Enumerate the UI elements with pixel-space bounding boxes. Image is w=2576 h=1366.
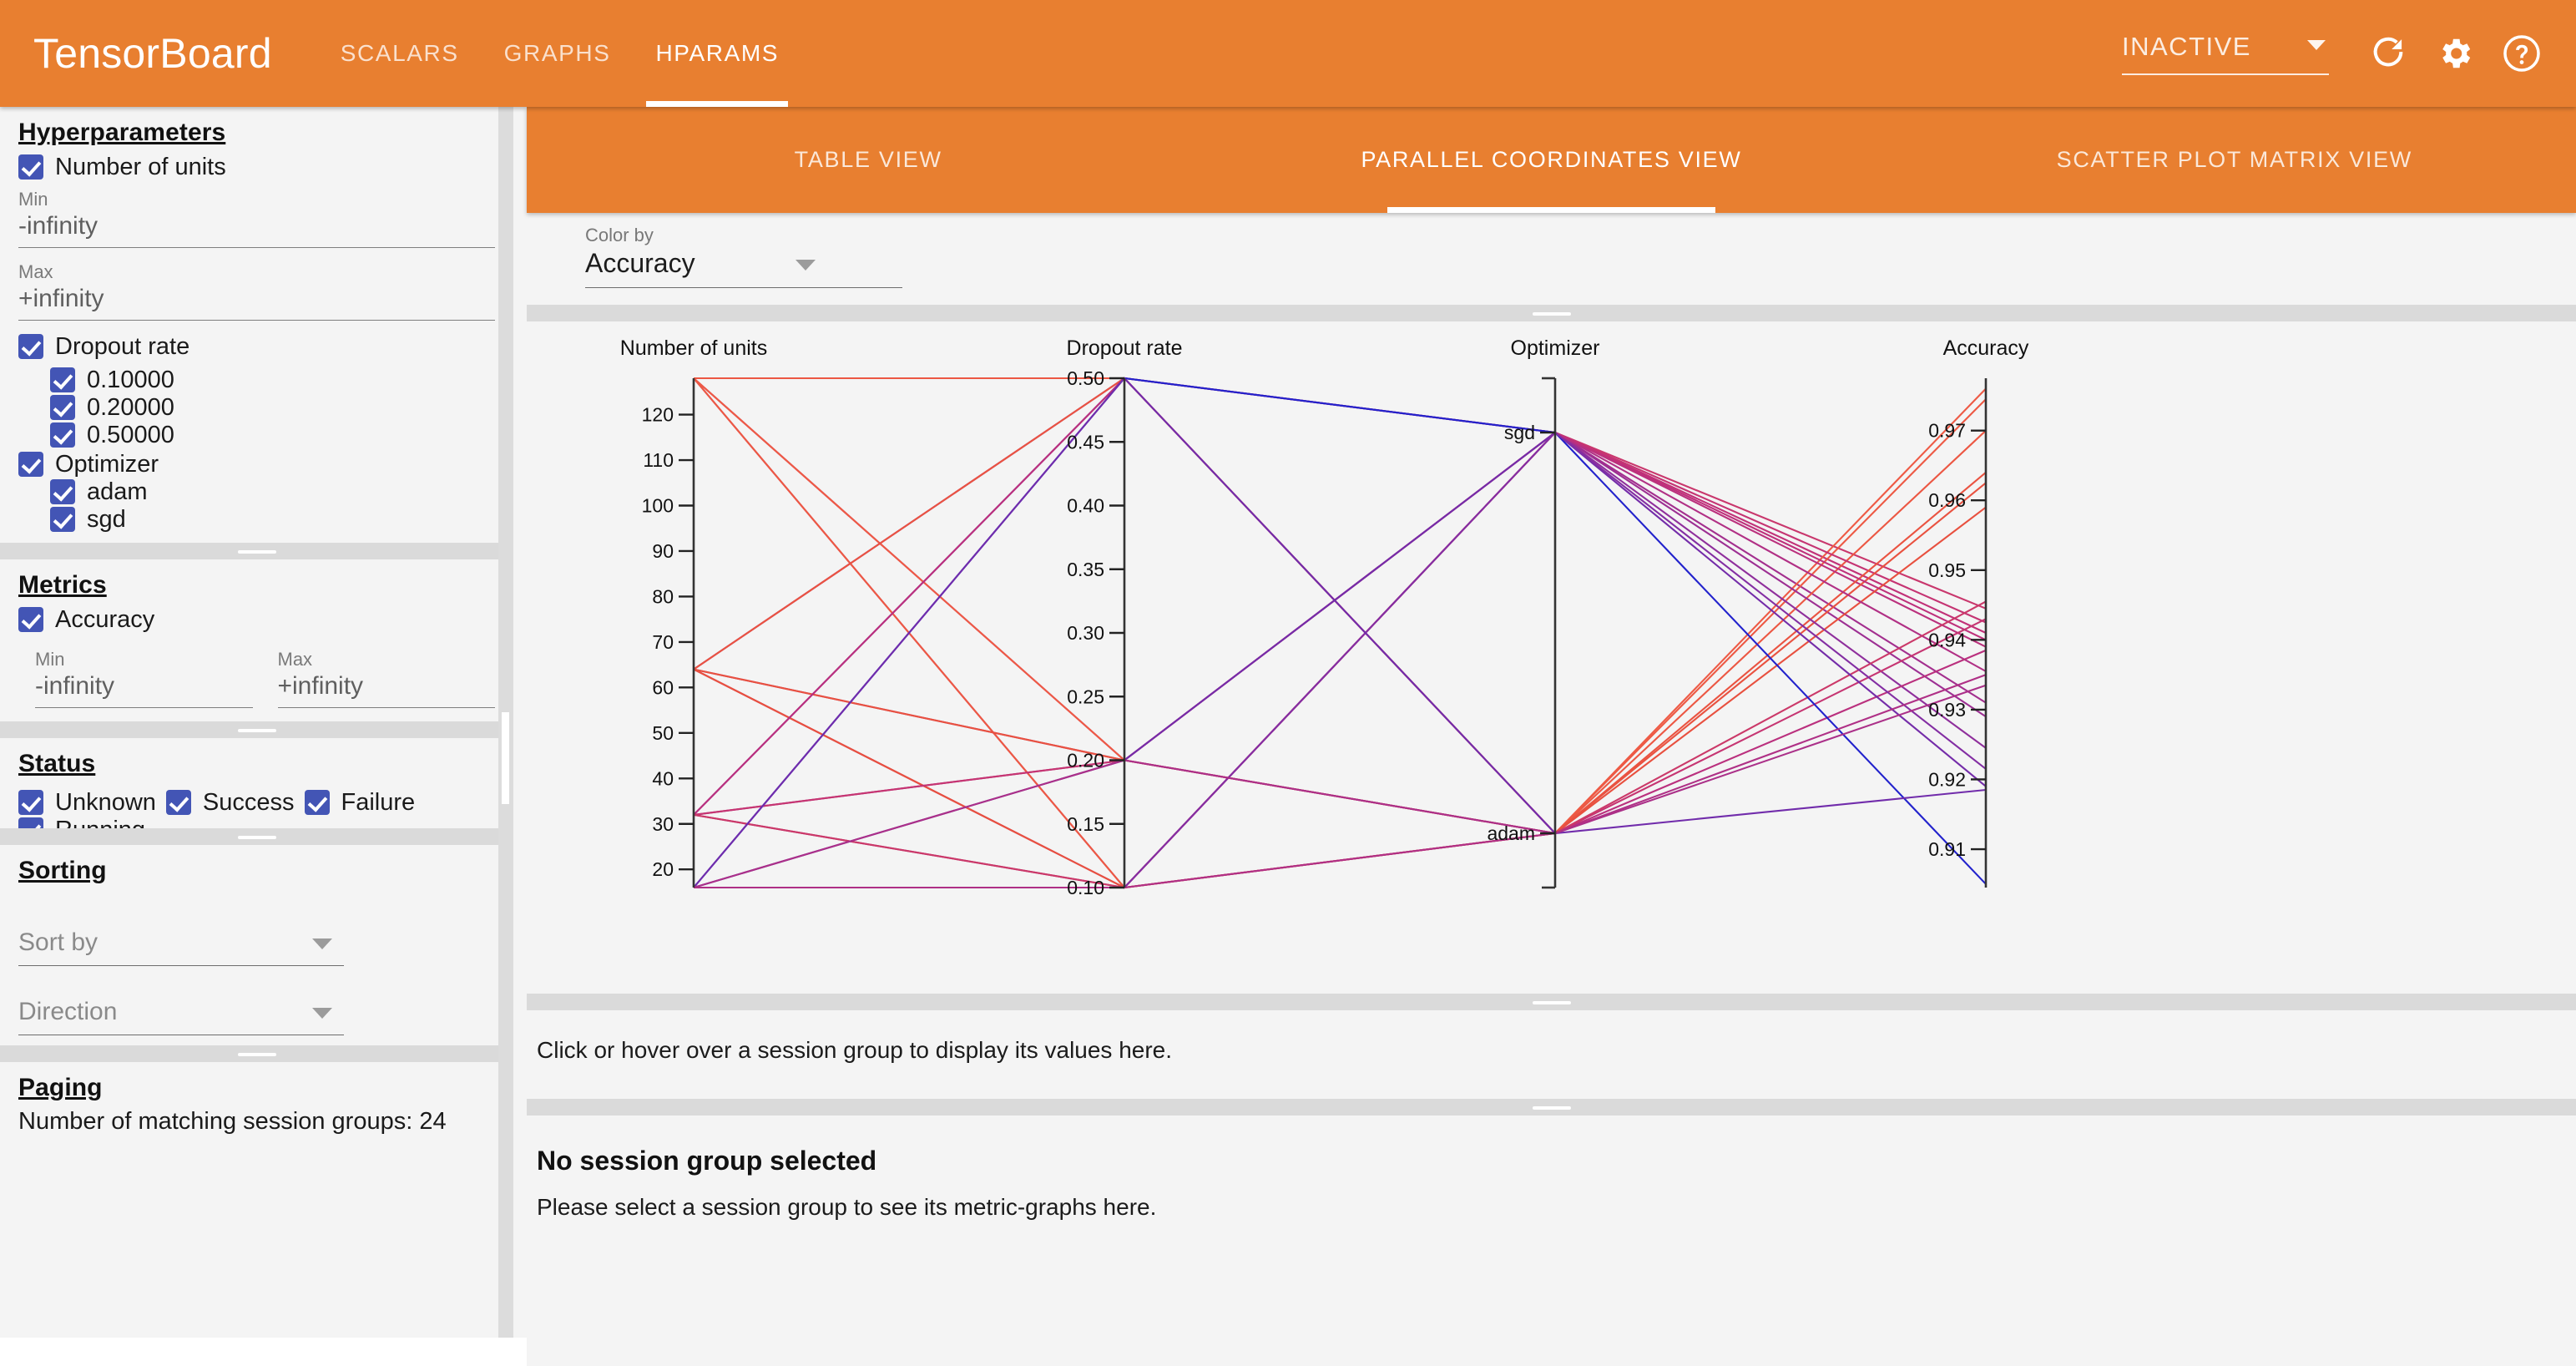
hover-resize-handle[interactable] bbox=[527, 994, 2576, 1010]
nav-tab-hparams[interactable]: HPARAMS bbox=[633, 0, 801, 107]
metric-label: Accuracy bbox=[55, 607, 154, 633]
metrics-title: Metrics bbox=[18, 559, 495, 600]
section-resize-handle[interactable] bbox=[0, 1045, 513, 1062]
view-tabs: TABLE VIEW PARALLEL COORDINATES VIEW SCA… bbox=[527, 107, 2576, 213]
accuracy-max-value[interactable]: +infinity bbox=[278, 672, 496, 708]
hparam-number-of-units[interactable]: Number of units bbox=[18, 154, 495, 180]
accuracy-min-field[interactable]: Min -infinity bbox=[35, 649, 253, 708]
direction-value: Direction bbox=[18, 998, 117, 1025]
tab-scatter-plot-matrix-view[interactable]: SCATTER PLOT MATRIX VIEW bbox=[1893, 107, 2576, 213]
accuracy-min-value[interactable]: -infinity bbox=[35, 672, 253, 708]
svg-text:0.93: 0.93 bbox=[1928, 699, 1966, 721]
svg-text:50: 50 bbox=[652, 722, 674, 744]
metrics-section: Metrics Accuracy Min -infinity Max +infi… bbox=[0, 559, 513, 721]
status-label: Unknown bbox=[55, 790, 156, 816]
svg-text:adam: adam bbox=[1487, 822, 1535, 844]
svg-text:0.94: 0.94 bbox=[1928, 629, 1966, 650]
parallel-coordinates-svg[interactable]: Number of units2030405060708090100110120… bbox=[527, 321, 2576, 994]
units-min-field[interactable]: Min -infinity bbox=[18, 189, 495, 248]
metric-accuracy[interactable]: Accuracy bbox=[18, 607, 495, 633]
hparam-dropout-rate[interactable]: Dropout rate bbox=[18, 334, 495, 360]
help-icon[interactable] bbox=[2498, 29, 2546, 78]
run-selector-value: INACTIVE bbox=[2122, 32, 2251, 61]
units-min-value[interactable]: -infinity bbox=[18, 212, 495, 248]
accuracy-max-field[interactable]: Max +infinity bbox=[278, 649, 496, 708]
svg-text:0.91: 0.91 bbox=[1928, 838, 1966, 860]
svg-text:60: 60 bbox=[652, 676, 674, 698]
svg-text:0.25: 0.25 bbox=[1067, 686, 1104, 707]
chart-resize-handle[interactable] bbox=[527, 305, 2576, 321]
direction-select[interactable]: Direction bbox=[18, 998, 344, 1035]
paging-section: Paging Number of matching session groups… bbox=[0, 1062, 513, 1135]
svg-text:0.35: 0.35 bbox=[1067, 559, 1104, 580]
session-group-panel: No session group selected Please select … bbox=[527, 1116, 2576, 1366]
chevron-down-icon bbox=[796, 260, 816, 271]
sidebar-scrollbar[interactable] bbox=[498, 107, 513, 1338]
hyperparameters-title: Hyperparameters bbox=[18, 107, 495, 147]
status-section: Status Unknown Success Failure Running bbox=[0, 738, 513, 822]
sorting-title: Sorting bbox=[18, 845, 495, 885]
section-resize-handle[interactable] bbox=[0, 828, 513, 845]
svg-text:0.97: 0.97 bbox=[1928, 420, 1966, 442]
svg-text:Accuracy: Accuracy bbox=[1943, 336, 2029, 360]
checkbox-dropout-rate[interactable] bbox=[18, 334, 43, 359]
color-by-label: Color by bbox=[585, 225, 902, 246]
run-selector[interactable]: INACTIVE bbox=[2122, 32, 2329, 75]
svg-text:0.96: 0.96 bbox=[1928, 489, 1966, 511]
color-by-select[interactable]: Color by Accuracy bbox=[585, 225, 902, 288]
session-group-title: No session group selected bbox=[537, 1146, 876, 1176]
svg-text:Number of units: Number of units bbox=[620, 336, 767, 360]
sort-by-select[interactable]: Sort by bbox=[18, 928, 344, 966]
optimizer-value-label: sgd bbox=[87, 507, 126, 533]
hparam-optimizer[interactable]: Optimizer bbox=[18, 452, 495, 478]
paging-title: Paging bbox=[18, 1062, 495, 1102]
session-group-resize-handle[interactable] bbox=[527, 1099, 2576, 1116]
svg-text:0.92: 0.92 bbox=[1928, 768, 1966, 790]
sort-by-value: Sort by bbox=[18, 928, 98, 956]
chevron-down-icon bbox=[2307, 40, 2326, 50]
checkbox-optimizer-sgd[interactable] bbox=[50, 507, 75, 532]
svg-text:Optimizer: Optimizer bbox=[1511, 336, 1600, 360]
svg-text:100: 100 bbox=[642, 495, 674, 517]
hyperparameters-section: Hyperparameters Number of units Min -inf… bbox=[0, 107, 513, 533]
units-max-field[interactable]: Max +infinity bbox=[18, 261, 495, 321]
svg-text:0.95: 0.95 bbox=[1928, 559, 1966, 581]
svg-text:0.20: 0.20 bbox=[1067, 750, 1104, 772]
optimizer-value-1[interactable]: sgd bbox=[50, 507, 495, 533]
refresh-icon[interactable] bbox=[2364, 29, 2412, 78]
checkbox-status-failure[interactable] bbox=[305, 790, 330, 815]
status-unknown[interactable]: Unknown bbox=[18, 790, 156, 816]
matching-session-groups: Number of matching session groups: 24 bbox=[18, 1109, 495, 1135]
svg-text:0.45: 0.45 bbox=[1067, 431, 1104, 453]
nav-tab-scalars[interactable]: SCALARS bbox=[318, 0, 482, 107]
nav-tab-graphs[interactable]: GRAPHS bbox=[482, 0, 634, 107]
checkbox-optimizer-adam[interactable] bbox=[50, 479, 75, 504]
dropout-value-0[interactable]: 0.10000 bbox=[50, 367, 495, 393]
header-actions: INACTIVE bbox=[2122, 29, 2546, 78]
tab-table-view[interactable]: TABLE VIEW bbox=[527, 107, 1210, 213]
status-label: Failure bbox=[341, 790, 416, 816]
color-by-value[interactable]: Accuracy bbox=[585, 248, 902, 288]
units-max-value[interactable]: +infinity bbox=[18, 285, 495, 321]
gear-icon[interactable] bbox=[2431, 29, 2479, 78]
svg-text:20: 20 bbox=[652, 858, 674, 880]
status-label: Success bbox=[203, 790, 295, 816]
section-resize-handle[interactable] bbox=[0, 721, 513, 738]
svg-text:0.10: 0.10 bbox=[1067, 877, 1104, 898]
units-min-label: Min bbox=[18, 189, 495, 210]
checkbox-optimizer[interactable] bbox=[18, 452, 43, 477]
svg-text:Dropout rate: Dropout rate bbox=[1067, 336, 1183, 360]
sidebar-scrollbar-thumb[interactable] bbox=[502, 712, 509, 804]
hparam-label: Number of units bbox=[55, 154, 226, 180]
filters-sidebar[interactable]: Hyperparameters Number of units Min -inf… bbox=[0, 107, 513, 1338]
sorting-section: Sorting Sort by Direction bbox=[0, 845, 513, 1045]
app-title: TensorBoard bbox=[33, 29, 272, 78]
dropout-value-label: 0.10000 bbox=[87, 367, 174, 393]
hparam-label: Optimizer bbox=[55, 452, 159, 478]
dropout-value-1[interactable]: 0.20000 bbox=[50, 395, 495, 421]
svg-text:30: 30 bbox=[652, 813, 674, 835]
svg-text:40: 40 bbox=[652, 767, 674, 789]
accuracy-range-fields: Min -infinity Max +infinity bbox=[35, 640, 495, 721]
session-group-subtitle: Please select a session group to see its… bbox=[537, 1194, 1156, 1221]
accuracy-min-label: Min bbox=[35, 649, 253, 670]
dropout-value-label: 0.20000 bbox=[87, 395, 174, 421]
svg-text:0.50: 0.50 bbox=[1067, 367, 1104, 389]
svg-text:110: 110 bbox=[643, 449, 674, 471]
section-resize-handle[interactable] bbox=[0, 543, 513, 559]
svg-text:120: 120 bbox=[642, 404, 674, 426]
hparam-label: Dropout rate bbox=[55, 334, 189, 360]
checkbox-status-success[interactable] bbox=[166, 790, 191, 815]
dropout-value-label: 0.50000 bbox=[87, 422, 174, 448]
main-content: TABLE VIEW PARALLEL COORDINATES VIEW SCA… bbox=[527, 107, 2576, 1338]
svg-text:70: 70 bbox=[652, 631, 674, 653]
color-by-value-text: Accuracy bbox=[585, 248, 695, 278]
checkbox-dropout-0.20000[interactable] bbox=[50, 395, 75, 420]
main-nav: SCALARS GRAPHS HPARAMS bbox=[318, 0, 801, 107]
status-failure[interactable]: Failure bbox=[305, 790, 416, 816]
checkbox-dropout-0.50000[interactable] bbox=[50, 422, 75, 448]
color-by-bar: Color by Accuracy bbox=[527, 213, 2576, 305]
checkbox-status-unknown[interactable] bbox=[18, 790, 43, 815]
hparams-dashboard: TensorBoard SCALARS GRAPHS HPARAMS INACT… bbox=[0, 0, 2576, 1338]
svg-text:0.30: 0.30 bbox=[1067, 622, 1104, 644]
chevron-down-icon bbox=[312, 1008, 332, 1019]
status-title: Status bbox=[18, 738, 495, 778]
svg-text:sgd: sgd bbox=[1504, 422, 1535, 443]
checkbox-number-of-units[interactable] bbox=[18, 154, 43, 180]
checkbox-accuracy[interactable] bbox=[18, 607, 43, 632]
parallel-coordinates-chart[interactable]: Number of units2030405060708090100110120… bbox=[527, 321, 2576, 994]
svg-text:0.40: 0.40 bbox=[1067, 495, 1104, 517]
hover-hint-text: Click or hover over a session group to d… bbox=[537, 1037, 1172, 1064]
svg-text:90: 90 bbox=[652, 540, 674, 562]
accuracy-max-label: Max bbox=[278, 649, 496, 670]
checkbox-dropout-0.10000[interactable] bbox=[50, 367, 75, 392]
tab-parallel-coordinates-view[interactable]: PARALLEL COORDINATES VIEW bbox=[1210, 107, 1892, 213]
status-success[interactable]: Success bbox=[166, 790, 295, 816]
hover-values-panel: Click or hover over a session group to d… bbox=[527, 1010, 2576, 1099]
app-header: TensorBoard SCALARS GRAPHS HPARAMS INACT… bbox=[0, 0, 2576, 107]
optimizer-value-0[interactable]: adam bbox=[50, 479, 495, 505]
chevron-down-icon bbox=[312, 938, 332, 949]
svg-text:0.15: 0.15 bbox=[1067, 813, 1104, 835]
optimizer-value-label: adam bbox=[87, 479, 148, 505]
dropout-value-2[interactable]: 0.50000 bbox=[50, 422, 495, 448]
units-max-label: Max bbox=[18, 261, 495, 283]
svg-text:80: 80 bbox=[652, 585, 674, 607]
